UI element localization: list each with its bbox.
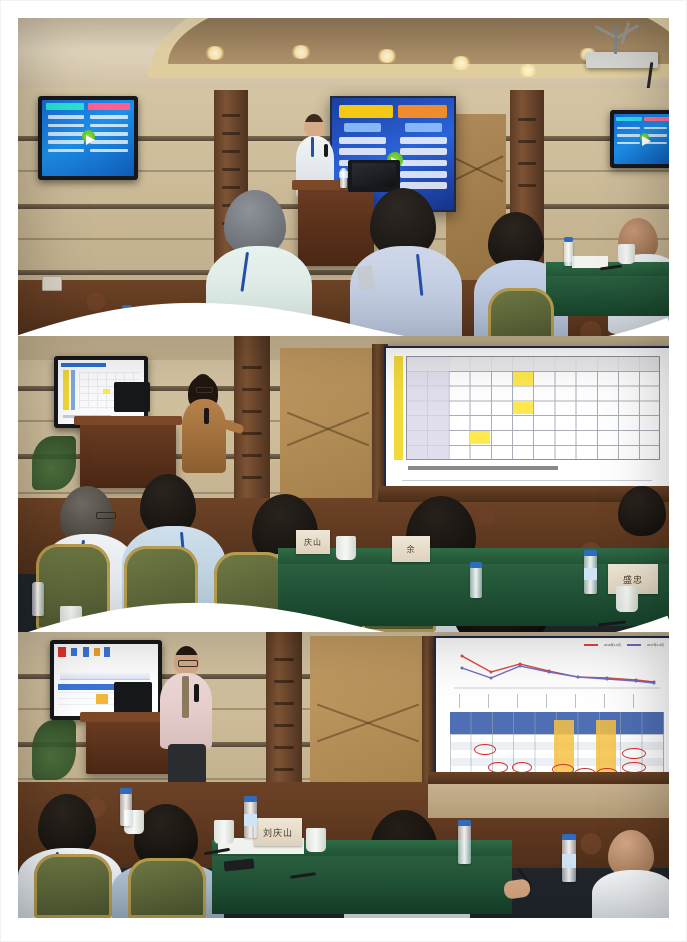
slide-text-row [617,142,639,145]
water-bottle [458,824,471,864]
water-bottle [122,308,132,336]
presenter-bottom [158,646,222,782]
dash-kpi [83,647,89,657]
glasses-icon [96,512,116,519]
water-bottle [564,240,573,266]
bottle-label [244,814,257,826]
dash-table-highlight [96,694,108,704]
bottle-cap [458,820,471,826]
presenter-head [304,114,324,138]
slide-title-band-2 [644,117,669,122]
slide-bullet [400,171,446,178]
scene-top [18,18,669,348]
bottle-cap [122,305,132,310]
slide-title-band [46,103,85,110]
annotation-circle [474,744,496,755]
bottle-cap [244,796,257,802]
wood-slat [274,724,294,727]
wood-slat [222,168,240,171]
sheet-highlight [103,389,111,393]
slide-text-row [48,115,85,119]
slide-bullet [339,137,385,144]
collage-photo-area: 庆山 余 盛忠 [18,18,669,918]
wood-slat [222,150,240,153]
wood-slat [242,476,262,479]
wood-slat [518,118,536,121]
slide-text-row [48,124,85,128]
wood-slat [274,746,294,749]
wall-mounted-tv-right [610,110,669,168]
microphone [194,684,199,702]
attendee-torso [592,870,669,918]
water-bottle [120,792,132,826]
bottle-label [562,854,576,868]
necktie [182,676,189,718]
banquet-chair [214,552,288,632]
slide-left-yellow-bar [394,356,403,460]
name-card-text: 刘庆山 [263,826,293,839]
wood-slat [242,388,262,391]
sheet-header [61,363,106,367]
tea-cup [336,536,356,560]
wood-slat [274,702,294,705]
wood-slat [518,162,536,165]
tv-screen-left [42,100,134,176]
name-card-text: 余 [407,544,416,555]
attendee-torso [350,246,462,348]
bottle-cap [120,788,132,794]
slide-footnote [408,466,558,470]
slide-text-row [90,140,129,144]
slide-text-row [90,115,129,119]
wood-slat [242,366,262,369]
projector-mount [614,26,617,54]
name-card-text: 盛忠 [623,573,643,586]
slide-text-row [617,134,639,137]
slide-title-band [616,117,642,122]
wood-slat [222,114,240,117]
wood-slat [274,680,294,683]
tv-screen-right [614,114,669,164]
slide-text-row [48,140,85,144]
slide-highlight-cell [470,431,490,444]
meeting-table-skirt [212,856,512,914]
tea-cup [306,828,326,852]
bottle-cap [584,550,597,556]
dash-linechart [60,661,149,679]
glasses-icon [178,660,198,667]
slide-bullet [400,148,446,155]
bottle-cap [562,834,576,840]
bottle-cap [470,562,482,568]
downlight-4 [450,56,472,70]
wood-slat [274,658,294,661]
banquet-chair [34,854,112,918]
sheet-col-blue [71,370,75,410]
slide-table-header-row [407,357,659,371]
bottle-cap [564,237,573,242]
tea-cup [60,606,82,632]
water-bottle [470,566,482,598]
podium-top [298,186,374,266]
presenter-middle [178,374,234,486]
wood-slat [274,768,294,771]
slide-text-row [90,124,129,128]
meeting-table-skirt [546,276,669,316]
wood-slat [242,454,262,457]
slide-table-left-block [407,357,449,459]
wood-slat [518,140,536,143]
photo-panel-middle: 庆山 余 盛忠 [18,336,669,648]
slide-bullet [339,148,385,155]
slide-title-right [398,105,447,118]
slide-highlight-cell [513,372,533,385]
green-arrow-icon [640,133,649,142]
slide-subheader-right [405,123,442,132]
wood-slat [222,132,240,135]
sheet-col-yellow [63,370,69,410]
slide-bullet [400,160,446,167]
wood-slat [518,184,536,187]
banquet-chair [124,546,198,630]
slide-title-band-2 [88,103,130,110]
legend-marker-series2 [627,644,641,646]
laptop-screen [352,163,396,187]
photo-panel-bottom: 2016年1-6月 2017年1-6月 [18,632,669,918]
ceiling-projector [586,52,658,68]
legend-label-series2: 2017年1-6月 [647,643,664,647]
slide-title-left [339,105,393,118]
slide-bullet [400,137,446,144]
banquet-chair [128,858,206,918]
scene-bottom: 2016年1-6月 2017年1-6月 [18,632,669,918]
tea-cup [618,244,635,264]
tea-cup [616,586,638,612]
slide-text-row [90,149,129,153]
legend-label-series1: 2016年1-6月 [604,643,621,647]
chart-axis-labels [454,694,660,708]
slide-text-row [90,132,129,136]
slide-text-row [617,127,639,130]
wood-slat [222,186,240,189]
bottle-label [584,568,597,580]
lanyard [311,137,314,157]
wall-socket [42,276,62,291]
slide-footer-rule [402,480,652,481]
projection-screen-middle [384,346,669,492]
downlight-1 [204,46,226,60]
podium-surface [74,416,182,425]
scene-middle: 庆山 余 盛忠 [18,336,669,648]
glasses-icon [196,387,213,393]
name-card: 刘庆山 [254,818,302,846]
name-card: 庆山 [296,530,330,554]
chart-legend: 2016年1-6月 2017年1-6月 [584,643,664,647]
water-bottle [340,168,347,188]
legend-marker-series1 [584,644,598,646]
wall-lower-panel [428,784,669,818]
wood-slat [242,432,262,435]
downlight-3 [376,49,398,63]
attendee-head [38,794,96,856]
slide-text-row [48,132,85,136]
collage-canvas: 庆山 余 盛忠 [0,0,687,942]
wood-slat [242,410,262,413]
microphone [324,144,328,157]
photo-panel-top [18,18,669,348]
wall-mounted-tv-left [38,96,138,180]
potted-plant [32,436,76,490]
downlight-2 [290,45,312,59]
name-card-text: 庆山 [304,537,322,548]
attendee-torso [206,246,312,348]
slide-text-row [48,149,85,153]
slide-subheader-left [344,123,381,132]
dash-kpi [104,647,110,657]
attendee-head [618,486,666,536]
green-arrow-icon [82,130,95,143]
laptop-bottom [114,682,152,714]
trousers [168,744,206,786]
microphone [204,408,209,424]
downlight-5 [518,64,538,77]
name-card: 余 [392,536,430,562]
chart-plot-area [454,650,660,694]
tea-cup [214,820,234,844]
annotation-circle [622,748,646,759]
hand-writing [503,878,531,899]
water-bottle [32,582,44,616]
dash-kpi [94,648,100,656]
dash-kpi [71,648,77,657]
slide-highlight-cell [513,401,533,414]
laptop-middle [114,382,150,412]
slide-text-row [644,127,667,130]
dash-kpi [58,647,66,657]
potted-plant [32,720,76,780]
